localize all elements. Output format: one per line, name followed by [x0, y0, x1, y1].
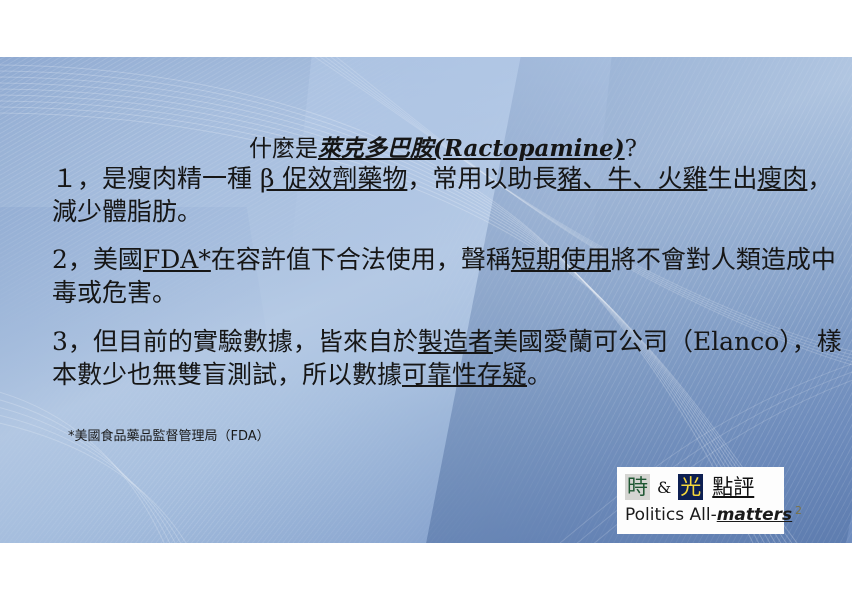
title-suffix: ? [625, 136, 637, 162]
para1-seg-3: 豬、牛、火雞 [557, 164, 707, 193]
logo-characters-row: 時 & 光 點評 [625, 472, 778, 502]
paragraph-2: 2，美國FDA*在容許值下合法使用，聲稱短期使用將不會對人類造成中毒或危害。 [52, 243, 842, 309]
para2-seg-3: 短期使用 [511, 245, 611, 274]
presentation-frame: 什麼是萊克多巴胺(Ractopamine)? １，是瘦肉精一種 β 促效劑藥物，… [0, 0, 852, 602]
para3-seg-0: 3，但目前的實驗數據，皆來自於 [52, 327, 418, 356]
para3-seg-3: 可靠性存疑 [402, 360, 527, 389]
slide-canvas: 什麼是萊克多巴胺(Ractopamine)? １，是瘦肉精一種 β 促效劑藥物，… [0, 57, 852, 543]
para3-seg-1: 製造者 [418, 327, 493, 356]
logo-char-dianping: 點評 [709, 474, 754, 500]
slide-title: 什麼是萊克多巴胺(Ractopamine)? [0, 135, 852, 163]
para2-seg-0: 2，美國 [52, 245, 143, 274]
footnote-fda: *美國食品藥品監督管理局（FDA） [68, 428, 270, 446]
para2-seg-2: 在容許值下合法使用，聲稱 [211, 245, 511, 274]
para2-seg-1: FDA* [143, 245, 211, 274]
para1-seg-0: １，是瘦肉精一種 [52, 164, 260, 193]
title-emphasis: 萊克多巴胺(Ractopamine) [318, 135, 625, 162]
slide-page-number: 2 [795, 504, 802, 517]
paragraph-1: １，是瘦肉精一種 β 促效劑藥物，常用以助長豬、牛、火雞生出瘦肉，減少體脂肪。 [52, 162, 842, 228]
logo-subtitle-prefix: Politics All- [625, 505, 717, 525]
logo-subtitle: Politics All-matters [625, 504, 778, 526]
title-prefix: 什麼是 [249, 136, 318, 162]
logo-char-shi: 時 [625, 474, 650, 500]
brand-logo: 時 & 光 點評 Politics All-matters [617, 467, 784, 534]
para1-seg-2: ，常用以助長 [407, 164, 557, 193]
para1-seg-4: 生出 [707, 164, 757, 193]
logo-subtitle-emphasis: matters [717, 505, 792, 525]
para1-seg-5: 瘦肉 [757, 164, 807, 193]
para1-seg-1: β 促效劑藥物 [260, 164, 407, 193]
para3-seg-4: 。 [527, 360, 552, 389]
logo-char-guang: 光 [678, 474, 703, 500]
paragraph-3: 3，但目前的實驗數據，皆來自於製造者美國愛蘭可公司（Elanco），樣本數少也無… [52, 325, 842, 391]
logo-ampersand: & [656, 478, 672, 497]
